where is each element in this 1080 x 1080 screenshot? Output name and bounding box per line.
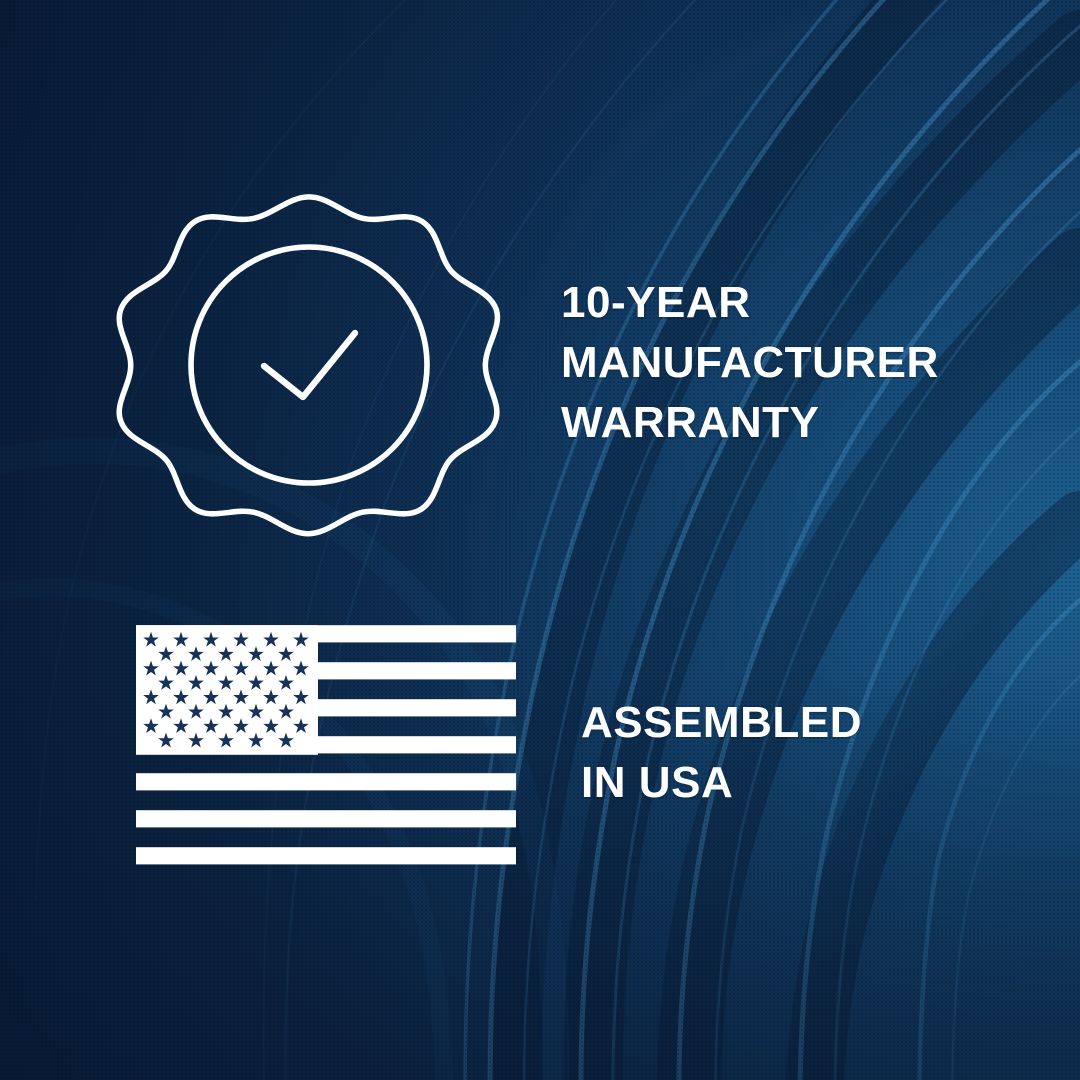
warranty-icon-cell [133, 186, 485, 538]
usa-flag-icon [133, 624, 519, 880]
check-icon [264, 333, 355, 397]
feature-assembled: ASSEMBLED IN USA [133, 624, 862, 880]
flag-icon-cell [133, 624, 519, 880]
promo-graphic: 10-YEAR MANUFACTURER WARRANTY [0, 0, 1080, 1080]
flag-canton [136, 625, 318, 755]
warranty-label: 10-YEAR MANUFACTURER WARRANTY [561, 273, 939, 452]
background-gradient [0, 0, 1080, 1080]
badge-inner-circle [191, 247, 427, 483]
feature-warranty: 10-YEAR MANUFACTURER WARRANTY [133, 186, 939, 538]
award-badge-check-icon [133, 186, 485, 538]
assembled-label: ASSEMBLED IN USA [581, 693, 862, 813]
